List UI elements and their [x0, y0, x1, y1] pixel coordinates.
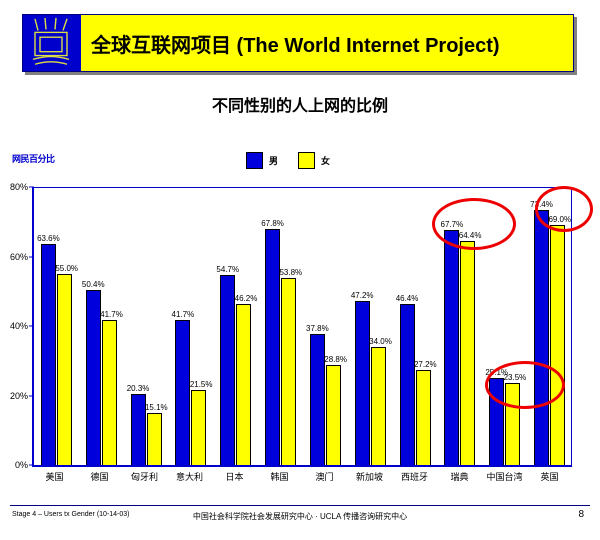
bar-female: 21.5% [191, 390, 206, 465]
bar-value-label: 41.7% [172, 310, 195, 319]
bar-male: 50.4% [86, 290, 101, 465]
legend-label-female: 女 [321, 154, 330, 167]
y-axis-tick-label: 60% [2, 252, 28, 262]
bar-value-label: 53.8% [279, 268, 302, 277]
bar-group: 20.3%15.1% [124, 187, 169, 465]
y-axis-tick-label: 40% [2, 321, 28, 331]
bar-group: 41.7%21.5% [168, 187, 213, 465]
y-axis-tick-label: 20% [2, 391, 28, 401]
bar-male: 67.8% [265, 229, 280, 465]
bar-female: 34.0% [371, 347, 386, 465]
footer-center-text: 中国社会科学院社会发展研究中心 · UCLA 传播咨询研究中心 [0, 511, 600, 522]
x-axis-label: 瑞典 [437, 470, 482, 483]
bar-female: 53.8% [281, 278, 296, 465]
footer-page-number: 8 [578, 509, 584, 520]
footer-divider [10, 505, 590, 506]
bar-group: 63.6%55.0% [34, 187, 79, 465]
bar-value-label: 73.4% [530, 200, 553, 209]
bar-female: 69.0% [550, 225, 565, 465]
bar-male: 54.7% [220, 275, 235, 465]
bar-male: 25.1% [489, 378, 504, 465]
bar-value-label: 46.2% [235, 294, 258, 303]
bar-value-label: 67.7% [441, 220, 464, 229]
x-axis-label: 意大利 [167, 470, 212, 483]
bar-value-label: 23.5% [504, 373, 527, 382]
bar-male: 20.3% [131, 394, 146, 465]
bar-value-label: 15.1% [145, 403, 168, 412]
bar-groups: 63.6%55.0%50.4%41.7%20.3%15.1%41.7%21.5%… [34, 187, 572, 465]
bar-male: 41.7% [175, 320, 190, 465]
y-axis-tick-label: 0% [2, 460, 28, 470]
legend-swatch-male [246, 152, 263, 169]
bar-value-label: 34.0% [369, 337, 392, 346]
chart-plot-area: 0%20%40%60%80% 63.6%55.0%50.4%41.7%20.3%… [32, 187, 572, 467]
bar-female: 55.0% [57, 274, 72, 465]
x-axis-label: 匈牙利 [122, 470, 167, 483]
banner-title: 全球互联网项目 (The World Internet Project) [81, 15, 573, 71]
bar-male: 73.4% [534, 210, 549, 465]
bar-group: 54.7%46.2% [213, 187, 258, 465]
bar-value-label: 20.3% [127, 384, 150, 393]
bar-value-label: 28.8% [324, 355, 347, 364]
bar-group: 50.4%41.7% [79, 187, 124, 465]
bar-female: 64.4% [460, 241, 475, 465]
bar-male: 67.7% [444, 230, 459, 465]
x-axis-label: 新加坡 [347, 470, 392, 483]
legend-label-male: 男 [269, 154, 278, 167]
x-axis-label: 澳门 [302, 470, 347, 483]
bar-female: 23.5% [505, 383, 520, 465]
x-axis-label: 英国 [527, 470, 572, 483]
bar-group: 67.7%64.4% [437, 187, 482, 465]
bar-value-label: 47.2% [351, 291, 374, 300]
bar-female: 46.2% [236, 304, 251, 465]
bar-group: 67.8%53.8% [258, 187, 303, 465]
bar-value-label: 21.5% [190, 380, 213, 389]
bar-value-label: 27.2% [414, 360, 437, 369]
y-axis-caption: 网民百分比 [12, 152, 55, 165]
x-axis-label: 德国 [77, 470, 122, 483]
bar-group: 37.8%28.8% [303, 187, 348, 465]
bar-female: 15.1% [147, 413, 162, 465]
chart-legend: 男 女 [246, 152, 344, 169]
x-axis-label: 美国 [32, 470, 77, 483]
bar-value-label: 37.8% [306, 324, 329, 333]
x-axis-label: 西班牙 [392, 470, 437, 483]
bar-group: 47.2%34.0% [348, 187, 393, 465]
bar-value-label: 63.6% [37, 234, 60, 243]
x-axis-label: 韩国 [257, 470, 302, 483]
bar-value-label: 41.7% [100, 310, 123, 319]
bar-female: 41.7% [102, 320, 117, 465]
bar-value-label: 64.4% [459, 231, 482, 240]
x-axis-label: 中国台湾 [482, 470, 527, 483]
bar-group: 25.1%23.5% [482, 187, 527, 465]
bar-group: 73.4%69.0% [527, 187, 572, 465]
x-axis-label: 日本 [212, 470, 257, 483]
header-banner: 全球互联网项目 (The World Internet Project) [22, 14, 574, 72]
slide-canvas: 全球互联网项目 (The World Internet Project) 不同性… [0, 0, 600, 540]
bar-male: 63.6% [41, 244, 56, 465]
y-axis-tick-label: 80% [2, 182, 28, 192]
x-axis-labels: 美国德国匈牙利意大利日本韩国澳门新加坡西班牙瑞典中国台湾英国 [32, 470, 572, 483]
legend-swatch-female [298, 152, 315, 169]
bar-male: 46.4% [400, 304, 415, 465]
bar-value-label: 55.0% [55, 264, 78, 273]
bar-male: 47.2% [355, 301, 370, 465]
chart-title: 不同性别的人上网的比例 [0, 92, 600, 116]
monitor-screen-icon [23, 15, 81, 71]
bar-value-label: 69.0% [548, 215, 571, 224]
bar-value-label: 46.4% [396, 294, 419, 303]
bar-female: 27.2% [416, 370, 431, 465]
bar-value-label: 50.4% [82, 280, 105, 289]
bar-group: 46.4%27.2% [393, 187, 438, 465]
bar-value-label: 67.8% [261, 219, 284, 228]
bar-female: 28.8% [326, 365, 341, 465]
bar-male: 37.8% [310, 334, 325, 465]
bar-value-label: 54.7% [216, 265, 239, 274]
